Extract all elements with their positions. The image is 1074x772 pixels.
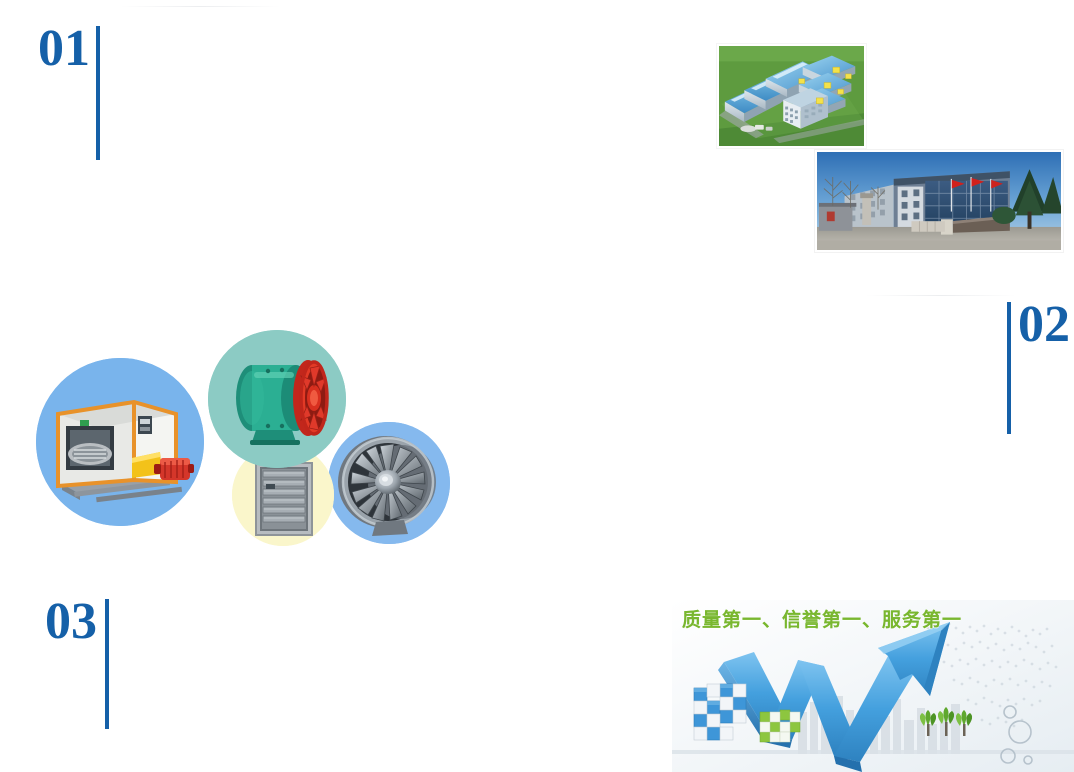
product-impeller-fan [328, 422, 450, 544]
section-number-03: 03 [45, 597, 97, 647]
product-image-cluster [36, 330, 426, 550]
decorative-rule-top [120, 6, 280, 7]
page-canvas: 01 02 03 [0, 0, 1074, 772]
photo-office-building [815, 150, 1063, 252]
office-building-art [817, 152, 1061, 250]
section-rule-03 [105, 599, 109, 729]
cabinet-fan-unit-art [36, 358, 204, 526]
axial-fan-art [208, 330, 346, 468]
photo-factory-render [717, 44, 866, 148]
decorative-rule-middle [866, 295, 1016, 296]
section-rule-01 [96, 26, 100, 160]
section-marker-01: 01 [38, 24, 100, 160]
quality-slogan-text: 质量第一、信誉第一、服务第一 [682, 605, 962, 632]
product-axial-fan [208, 330, 346, 468]
impeller-fan-art [328, 422, 450, 544]
section-marker-03: 03 [45, 597, 109, 729]
banner-quality-slogan: 质量第一、信誉第一、服务第一 [672, 600, 1074, 772]
section-marker-02: 02 [1007, 300, 1070, 434]
factory-render-art [719, 46, 864, 146]
product-cabinet-fan-unit [36, 358, 204, 526]
section-number-02: 02 [1018, 300, 1070, 350]
section-rule-02 [1007, 302, 1011, 434]
section-number-01: 01 [38, 24, 90, 74]
